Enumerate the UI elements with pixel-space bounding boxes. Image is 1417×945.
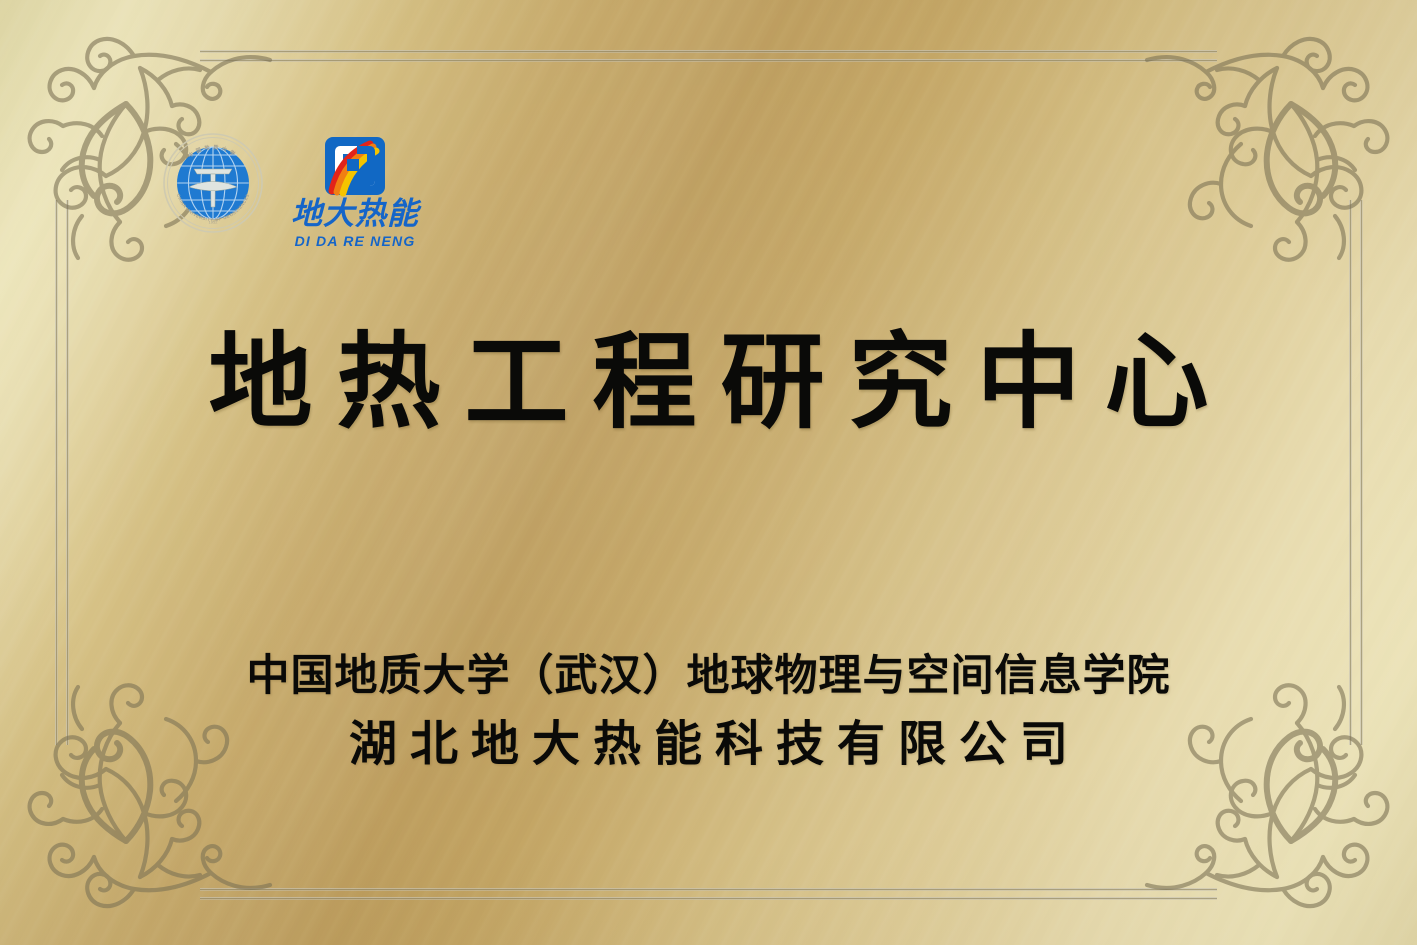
svg-text:1952: 1952: [209, 220, 219, 225]
company-name-en: DI DA RE NENG: [295, 233, 416, 249]
cug-globe-seal-icon: 中国地质大学 CHINA UNIVERSITY OF GEOSCIENCES 1…: [163, 133, 263, 233]
frame-top-line-outer: [200, 50, 1217, 53]
company-logo: 地大热能 DI DA RE NENG: [291, 135, 419, 249]
frame-top-line-inner: [200, 59, 1217, 62]
page-title: 地热工程研究中心: [0, 327, 1417, 437]
org-line-university: 中国地质大学（武汉）地球物理与空间信息学院: [0, 641, 1417, 703]
logo-row: 中国地质大学 CHINA UNIVERSITY OF GEOSCIENCES 1…: [163, 133, 419, 249]
filigree-corner-ornament-icon: [1139, 8, 1409, 263]
company-name-cn: 地大热能: [291, 199, 419, 230]
org-line-company: 湖北地大热能科技有限公司: [0, 704, 1417, 774]
frame-bottom-line-outer: [200, 888, 1217, 891]
frame-bottom-line-inner: [200, 897, 1217, 900]
didareneng-rainbow-square-icon: [323, 135, 387, 197]
award-plaque: 中国地质大学 CHINA UNIVERSITY OF GEOSCIENCES 1…: [0, 0, 1417, 945]
